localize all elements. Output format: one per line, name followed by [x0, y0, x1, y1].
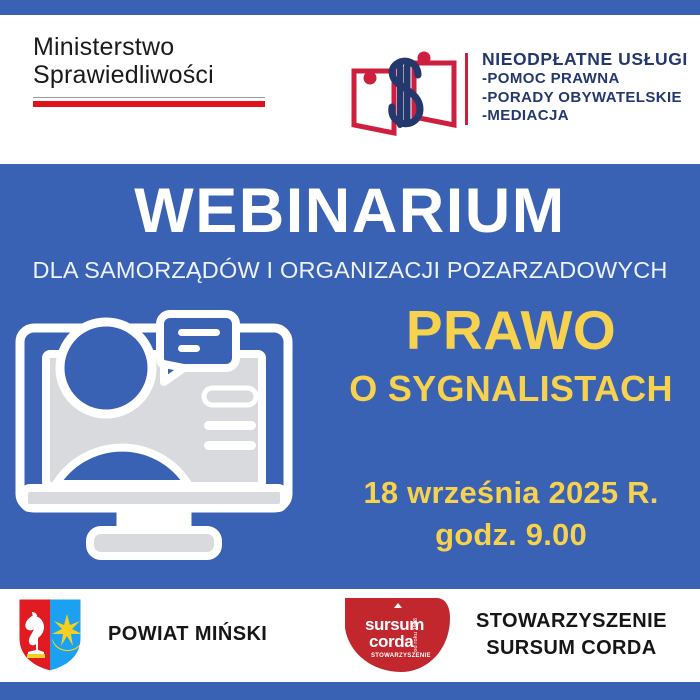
bottom-accent-strip	[0, 682, 700, 700]
svg-text:od roku 1998: od roku 1998	[413, 618, 419, 652]
ministry-name-line1: Ministerstwo	[33, 33, 283, 61]
page-subtitle: DLA SAMORZĄDÓW I ORGANIZACJI POZARZADOWY…	[0, 256, 700, 284]
svg-text:STOWARZYSZENIE: STOWARZYSZENIE	[371, 653, 431, 659]
npp-item-2: -MEDIACJA	[482, 107, 688, 126]
npp-text-block: NIEODPŁATNE USŁUGI -POMOC PRAWNA -PORADY…	[482, 45, 688, 126]
logo-divider	[465, 53, 468, 125]
ministry-rule-grey	[33, 97, 265, 98]
npp-item-0: -POMOC PRAWNA	[482, 70, 688, 89]
main-content-area: WEBINARIUM DLA SAMORZĄDÓW I ORGANIZACJI …	[0, 164, 700, 589]
npp-title: NIEODPŁATNE USŁUGI	[482, 49, 688, 70]
powiat-minski-label: POWIAT MIŃSKI	[108, 623, 267, 646]
svg-text:corda: corda	[369, 632, 414, 651]
topic-and-date-column: PRAWO O SYGNALISTACH 18 września 2025 R.…	[330, 300, 692, 556]
sursum-corda-label: STOWARZYSZENIE SURSUM CORDA	[476, 608, 667, 662]
topic-line-1: PRAWO	[330, 300, 692, 360]
event-date-block: 18 września 2025 R. godz. 9.00	[330, 472, 692, 556]
ministry-of-justice-logo: Ministerstwo Sprawiedliwości	[33, 33, 283, 107]
page-title: WEBINARIUM	[0, 178, 700, 244]
powiat-minski-block: POWIAT MIŃSKI	[14, 594, 267, 674]
free-legal-aid-logo: NIEODPŁATNE USŁUGI -POMOC PRAWNA -PORADY…	[348, 45, 688, 145]
event-date: 18 września 2025 R.	[330, 472, 692, 514]
ministry-name-line2: Sprawiedliwości	[33, 61, 283, 89]
powiat-minski-coat-of-arms-icon	[14, 594, 86, 674]
top-accent-strip	[0, 0, 700, 15]
event-time: godz. 9.00	[330, 514, 692, 556]
open-book-paragraph-icon	[348, 45, 463, 145]
sursum-corda-logo-icon: sursum corda STOWARZYSZENIE od roku 1998	[345, 592, 450, 678]
webinar-monitor-illustration	[8, 300, 308, 580]
sursum-corda-block: sursum corda STOWARZYSZENIE od roku 1998…	[345, 592, 667, 678]
header-bar: Ministerstwo Sprawiedliwości	[0, 15, 700, 164]
webinar-poster: Ministerstwo Sprawiedliwości	[0, 0, 700, 700]
npp-item-1: -PORADY OBYWATELSKIE	[482, 89, 688, 108]
sursum-corda-label-line2: SURSUM CORDA	[476, 635, 667, 662]
footer-bar: POWIAT MIŃSKI sursum corda STOWARZYSZENI…	[0, 589, 700, 682]
topic-line-2: O SYGNALISTACH	[330, 368, 692, 410]
ministry-rule-red	[33, 101, 265, 107]
sursum-corda-label-line1: STOWARZYSZENIE	[476, 608, 667, 635]
